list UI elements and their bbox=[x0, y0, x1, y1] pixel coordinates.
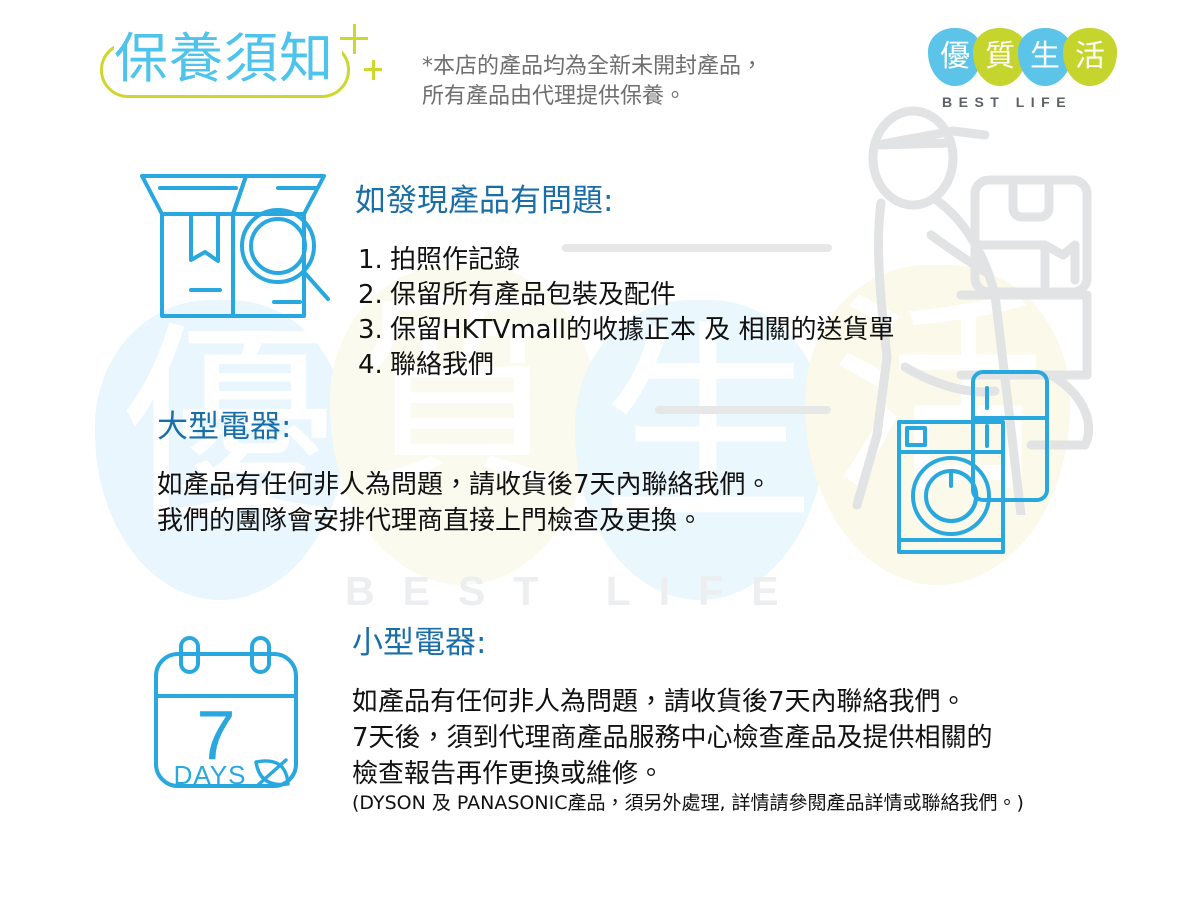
calendar-7-days-icon: 7 DAYS bbox=[148, 634, 318, 794]
list-item-label: 保留所有產品包裝及配件 bbox=[390, 278, 676, 313]
problem-steps-list: 1. 拍照作記錄 2. 保留所有產品包裝及配件 3. 保留HKTVmall的收據… bbox=[358, 243, 895, 383]
large-appliance-body: 如產品有任何非人為問題，請收貨後7天內聯絡我們。 我們的團隊會安排代理商直接上門… bbox=[157, 467, 772, 539]
brand-blob-4: 活 bbox=[1063, 28, 1117, 86]
sparkle-plus-icon-small bbox=[364, 60, 382, 80]
list-item: 2. 保留所有產品包裝及配件 bbox=[358, 278, 895, 313]
brand-blobs: 優 質 生 活 bbox=[928, 28, 1118, 90]
problem-heading: 如發現產品有問題: bbox=[355, 182, 613, 220]
list-item-number: 2. bbox=[358, 278, 390, 313]
large-appliance-heading: 大型電器: bbox=[157, 408, 291, 446]
watermark-bestlife-text: BEST LIFE bbox=[345, 568, 807, 615]
list-item: 4. 聯絡我們 bbox=[358, 348, 895, 383]
list-item-label: 聯絡我們 bbox=[390, 348, 494, 383]
watermark-blob-1 bbox=[95, 300, 345, 600]
list-item-label: 拍照作記錄 bbox=[390, 243, 520, 278]
list-item: 3. 保留HKTVmall的收據正本 及 相關的送貨單 bbox=[358, 313, 895, 348]
small-appliance-footnote: (DYSON 及 PANASONIC產品，須另外處理, 詳情請參閱產品詳情或聯絡… bbox=[352, 790, 1024, 816]
calendar-days-label: DAYS bbox=[174, 760, 247, 790]
maintenance-notice-page: 優 質 生 活 bbox=[0, 0, 1200, 900]
list-item-label: 保留HKTVmall的收據正本 及 相關的送貨單 bbox=[390, 313, 895, 348]
small-appliance-body: 如產品有任何非人為問題，請收貨後7天內聯絡我們。 7天後，須到代理商產品服務中心… bbox=[352, 684, 993, 792]
small-appliance-heading: 小型電器: bbox=[352, 624, 486, 662]
page-title: 保養須知 bbox=[114, 28, 334, 90]
washing-machine-fridge-icon bbox=[895, 368, 1070, 558]
list-item-number: 4. bbox=[358, 348, 390, 383]
brand-tagline: BEST LIFE bbox=[942, 94, 1072, 110]
list-item: 1. 拍照作記錄 bbox=[358, 243, 895, 278]
header-note: *本店的產品均為全新未開封產品， 所有產品由代理提供保養。 bbox=[422, 52, 763, 112]
brand-logo: 優 質 生 活 BEST LIFE bbox=[928, 28, 1118, 118]
sparkle-plus-icon-large bbox=[340, 24, 368, 54]
page-title-badge: 保養須知 bbox=[100, 28, 360, 98]
divider-line-2 bbox=[655, 406, 831, 414]
list-item-number: 1. bbox=[358, 243, 390, 278]
box-with-magnifier-icon bbox=[128, 168, 338, 323]
list-item-number: 3. bbox=[358, 313, 390, 348]
